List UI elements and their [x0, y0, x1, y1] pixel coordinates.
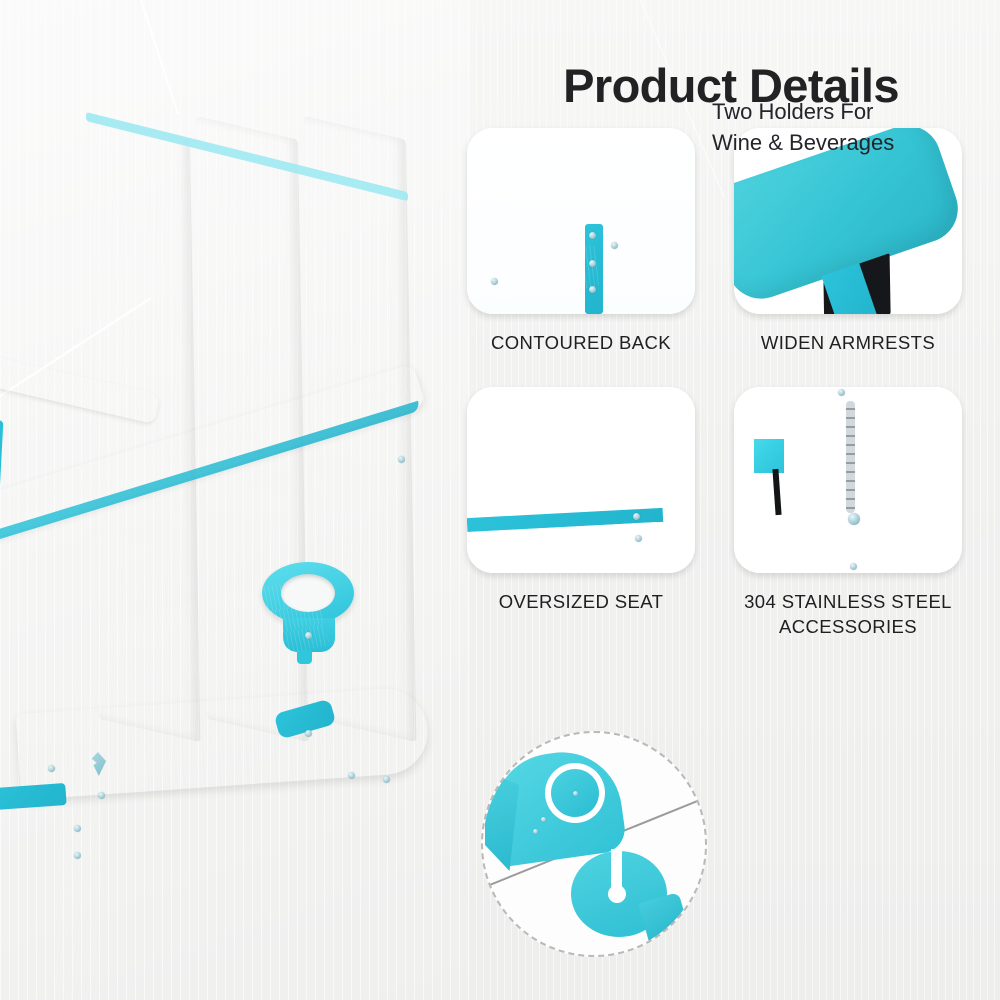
armrest-screw: [398, 456, 405, 463]
caption-line-1: 304 STAINLESS STEEL: [718, 589, 978, 614]
detail-card-contoured-back[interactable]: [467, 128, 695, 314]
product-detail-page: Product Details CONTOURED BACK: [0, 0, 1000, 1000]
detail-card-oversized-seat[interactable]: [467, 387, 695, 573]
stainless-chain-icon: [846, 401, 855, 513]
detail-image-stainless-accessories: [734, 387, 962, 573]
detail-image-oversized-seat: [467, 387, 695, 573]
detail-caption-contoured-back: CONTOURED BACK: [462, 330, 700, 355]
callout-line-1: Two Holders For: [712, 96, 992, 127]
detail-caption-oversized-seat: OVERSIZED SEAT: [462, 589, 700, 614]
chair-front-leg: [54, 679, 106, 1000]
callout-line-2: Wine & Beverages: [712, 127, 992, 158]
leg-screw: [98, 792, 105, 799]
detail-caption-widen-armrests: WIDEN ARMRESTS: [728, 330, 968, 355]
hinge-screw: [305, 730, 312, 737]
caption-line-2: ACCESSORIES: [718, 614, 978, 639]
cup-holders-callout-text: Two Holders For Wine & Beverages: [712, 96, 992, 158]
detail-card-stainless-accessories[interactable]: [734, 387, 962, 573]
cup-holder-screw: [533, 829, 538, 834]
hero-product-photo: [0, 0, 470, 1000]
wine-stem-slot-round: [608, 885, 626, 903]
leg-screw: [74, 825, 81, 832]
details-column: Product Details CONTOURED BACK: [462, 0, 1000, 1000]
cup-holder-screw: [573, 791, 578, 796]
detail-caption-stainless-accessories: 304 STAINLESS STEEL ACCESSORIES: [718, 589, 978, 639]
cup-holder-tab: [297, 650, 312, 664]
seat-rail-screw: [348, 772, 355, 779]
cup-holders-callout-circle[interactable]: [481, 731, 707, 957]
leg-screw: [48, 765, 55, 772]
leg-screw: [74, 852, 81, 859]
detail-image-contoured-back: [467, 128, 695, 314]
seat-rail-screw: [383, 776, 390, 783]
cup-holder-screw: [541, 817, 546, 822]
